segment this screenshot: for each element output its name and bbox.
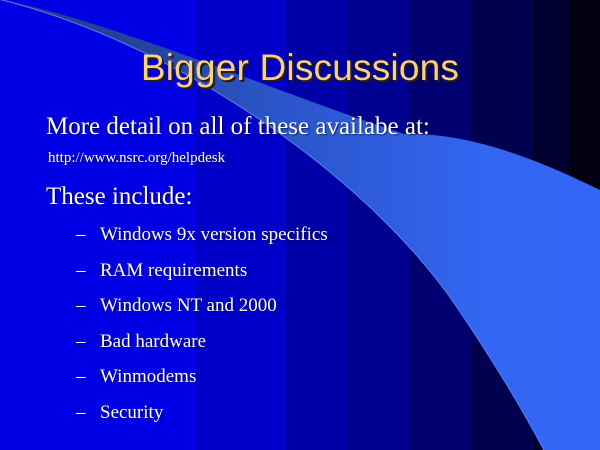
- helpdesk-url[interactable]: http://www.nsrc.org/helpdesk: [48, 150, 225, 167]
- list-item-label: Windows NT and 2000: [100, 295, 277, 316]
- page-title: Bigger Discussions: [0, 49, 600, 88]
- list-item[interactable]: –Windows 9x version specifics: [76, 224, 536, 260]
- list-item[interactable]: –Winmodems: [76, 366, 536, 402]
- lead-text-availability: More detail on all of these availabe at:: [46, 113, 430, 141]
- list-item[interactable]: –Windows NT and 2000: [76, 295, 536, 331]
- bullet-list: –Windows 9x version specifics–RAM requir…: [76, 224, 536, 438]
- bullet-dash-icon: –: [76, 260, 86, 282]
- bullet-dash-icon: –: [76, 295, 86, 317]
- lead-text-these-include: These include:: [46, 183, 192, 211]
- list-item-label: Windows 9x version specifics: [100, 224, 328, 245]
- list-item[interactable]: –RAM requirements: [76, 260, 536, 296]
- bullet-dash-icon: –: [76, 224, 86, 246]
- list-item[interactable]: –Security: [76, 402, 536, 438]
- list-item-label: RAM requirements: [100, 260, 247, 281]
- slide-canvas: Bigger Discussions More detail on all of…: [0, 0, 600, 450]
- bullet-dash-icon: –: [76, 366, 86, 388]
- list-item-label: Security: [100, 402, 163, 423]
- slide-content: Bigger Discussions More detail on all of…: [0, 0, 600, 450]
- list-item[interactable]: –Bad hardware: [76, 331, 536, 367]
- bullet-dash-icon: –: [76, 402, 86, 424]
- list-item-label: Winmodems: [100, 366, 196, 387]
- bullet-dash-icon: –: [76, 331, 86, 353]
- list-item-label: Bad hardware: [100, 331, 206, 352]
